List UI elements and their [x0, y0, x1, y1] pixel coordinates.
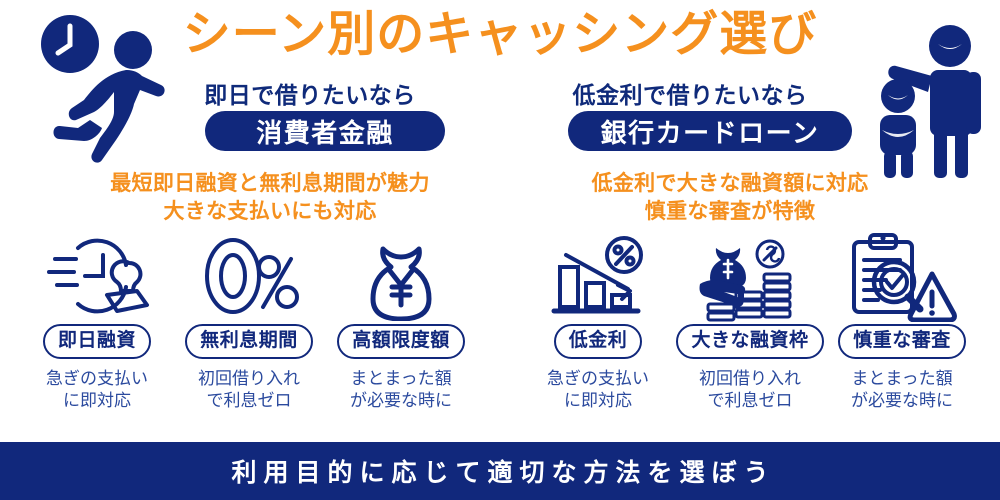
- clipboard-magnifier-warning-icon: [846, 228, 958, 324]
- feature-large-loan-frame: 大きな融資枠 初回借り入れ で利息ゼロ: [674, 228, 826, 413]
- caption-low-interest: 急ぎの支払い に即対応: [547, 368, 649, 413]
- caption-line-1: 急ぎの支払い: [547, 368, 649, 390]
- feature-careful-screening: 慎重な審査 まとまった額 が必要な時に: [826, 228, 978, 413]
- feature-interest-free-period: 無利息期間 初回借り入れ で利息ゼロ: [173, 228, 325, 413]
- caption-line-2: で利息ゼロ: [699, 390, 801, 412]
- caption-line-2: が必要な時に: [350, 390, 452, 412]
- footer-text: 利用目的に応じて適切な方法を選ぼう: [224, 453, 775, 489]
- badge-interest-free-period[interactable]: 無利息期間: [185, 324, 313, 359]
- feature-same-day-loan: 即日融資 急ぎの支払い に即対応: [21, 228, 173, 413]
- description-line-1: 低金利で大きな融資額に対応: [520, 170, 940, 198]
- caption-line-2: に即対応: [547, 390, 649, 412]
- caption-high-credit-limit: まとまった額 が必要な時に: [350, 368, 452, 413]
- badge-same-day-loan[interactable]: 即日融資: [43, 324, 151, 359]
- caption-line-2: で利息ゼロ: [198, 390, 300, 412]
- caption-line-1: まとまった額: [350, 368, 452, 390]
- footer-bar: 利用目的に応じて適切な方法を選ぼう: [0, 442, 1000, 500]
- feature-group-bank-card-loan: 低金利 急ぎの支払い に即対応: [512, 228, 988, 413]
- feature-low-interest: 低金利 急ぎの支払い に即対応: [522, 228, 674, 413]
- caption-line-1: 初回借り入れ: [198, 368, 300, 390]
- badge-large-loan-frame[interactable]: 大きな融資枠: [676, 324, 823, 359]
- caption-line-1: まとまった額: [851, 368, 953, 390]
- caption-careful-screening: まとまった額 が必要な時に: [851, 368, 953, 413]
- caption-line-2: に即対応: [46, 390, 148, 412]
- description-consumer-finance: 最短即日融資と無利息期間が魅力 大きな支払いにも対応: [60, 170, 480, 226]
- pill-bank-card-loan[interactable]: 銀行カードローン: [568, 111, 852, 151]
- money-bag-yen-icon: [347, 228, 455, 324]
- badge-high-credit-limit[interactable]: 高額限度額: [337, 324, 465, 359]
- description-line-1: 最短即日融資と無利息期間が魅力: [60, 170, 480, 198]
- caption-line-2: が必要な時に: [851, 390, 953, 412]
- description-bank-card-loan: 低金利で大きな融資額に対応 慎重な審査が特徴: [520, 170, 940, 226]
- column-heading-bank-card-loan: 低金利で借りたいなら: [530, 76, 850, 110]
- feature-group-consumer-finance: 即日融資 急ぎの支払い に即対応 無利息期間 初回借り入れ で利息ゼロ: [14, 228, 484, 413]
- caption-same-day-loan: 急ぎの支払い に即対応: [46, 368, 148, 413]
- badge-careful-screening[interactable]: 慎重な審査: [838, 324, 966, 359]
- badge-low-interest[interactable]: 低金利: [554, 324, 643, 359]
- description-line-2: 慎重な審査が特徴: [520, 198, 940, 226]
- feature-high-credit-limit: 高額限度額 まとまった額 が必要な時に: [325, 228, 477, 413]
- caption-large-loan-frame: 初回借り入れ で利息ゼロ: [699, 368, 801, 413]
- caption-line-1: 急ぎの支払い: [46, 368, 148, 390]
- column-heading-consumer-finance: 即日で借りたいなら: [150, 76, 470, 110]
- declining-bar-chart-percent-icon: [544, 228, 652, 324]
- caption-line-1: 初回借り入れ: [699, 368, 801, 390]
- zero-percent-icon: [195, 228, 303, 324]
- caption-interest-free-period: 初回借り入れ で利息ゼロ: [198, 368, 300, 413]
- hand-money-coin-stacks-icon: [694, 228, 806, 324]
- infographic-root: シーン別のキャッシング選び 即日で借りたいなら 消費者金融 低金利で借りたいなら…: [0, 0, 1000, 500]
- pill-consumer-finance[interactable]: 消費者金融: [205, 111, 445, 151]
- clock-stamp-icon: [43, 228, 151, 324]
- page-title: シーン別のキャッシング選び: [0, 8, 1000, 62]
- description-line-2: 大きな支払いにも対応: [60, 198, 480, 226]
